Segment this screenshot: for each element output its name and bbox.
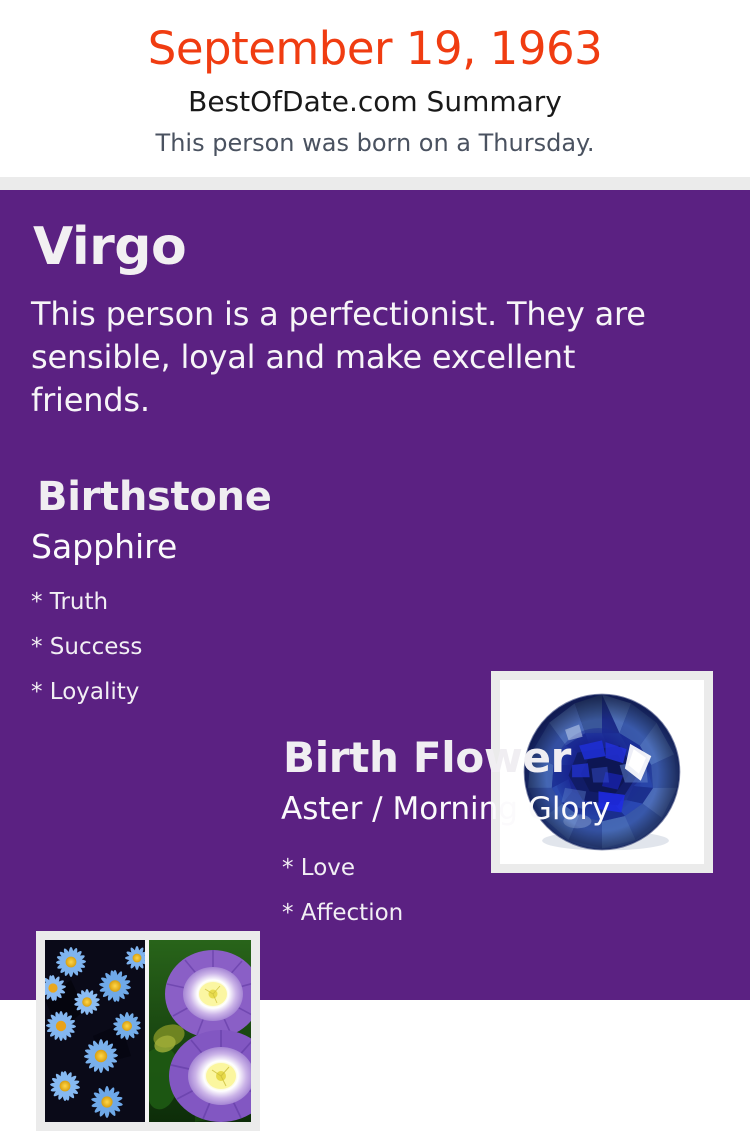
birthstone-name: Sapphire xyxy=(31,530,177,563)
zodiac-description: This person is a perfectionist. They are… xyxy=(31,293,671,422)
page-title: September 19, 1963 xyxy=(0,26,750,71)
summary-card: September 19, 1963 BestOfDate.com Summar… xyxy=(0,0,750,1000)
birth-flower-name: Aster / Morning Glory xyxy=(281,794,611,825)
list-item: * Affection xyxy=(282,891,403,936)
zodiac-sign-name: Virgo xyxy=(33,221,186,273)
morning-glory-panel xyxy=(149,940,251,1122)
birthstone-heading: Birthstone xyxy=(37,477,272,517)
weekday-note: This person was born on a Thursday. xyxy=(0,131,750,155)
list-item: * Truth xyxy=(31,580,142,625)
birth-flower-image xyxy=(45,940,251,1122)
header-section: September 19, 1963 BestOfDate.com Summar… xyxy=(0,0,750,177)
list-item: * Love xyxy=(282,846,403,891)
header-divider xyxy=(0,177,750,190)
birth-flower-trait-list: * Love * Affection xyxy=(282,846,403,936)
birth-flower-heading: Birth Flower xyxy=(283,737,571,779)
birthstone-trait-list: * Truth * Success * Loyality xyxy=(31,580,142,715)
site-subtitle: BestOfDate.com Summary xyxy=(0,88,750,116)
aster-morning-glory-icon xyxy=(45,940,251,1122)
aster-panel xyxy=(45,940,149,1122)
content-panel: Virgo This person is a perfectionist. Th… xyxy=(0,190,750,1000)
list-item: * Success xyxy=(31,625,142,670)
list-item: * Loyality xyxy=(31,670,142,715)
birth-flower-image-frame xyxy=(36,931,260,1131)
